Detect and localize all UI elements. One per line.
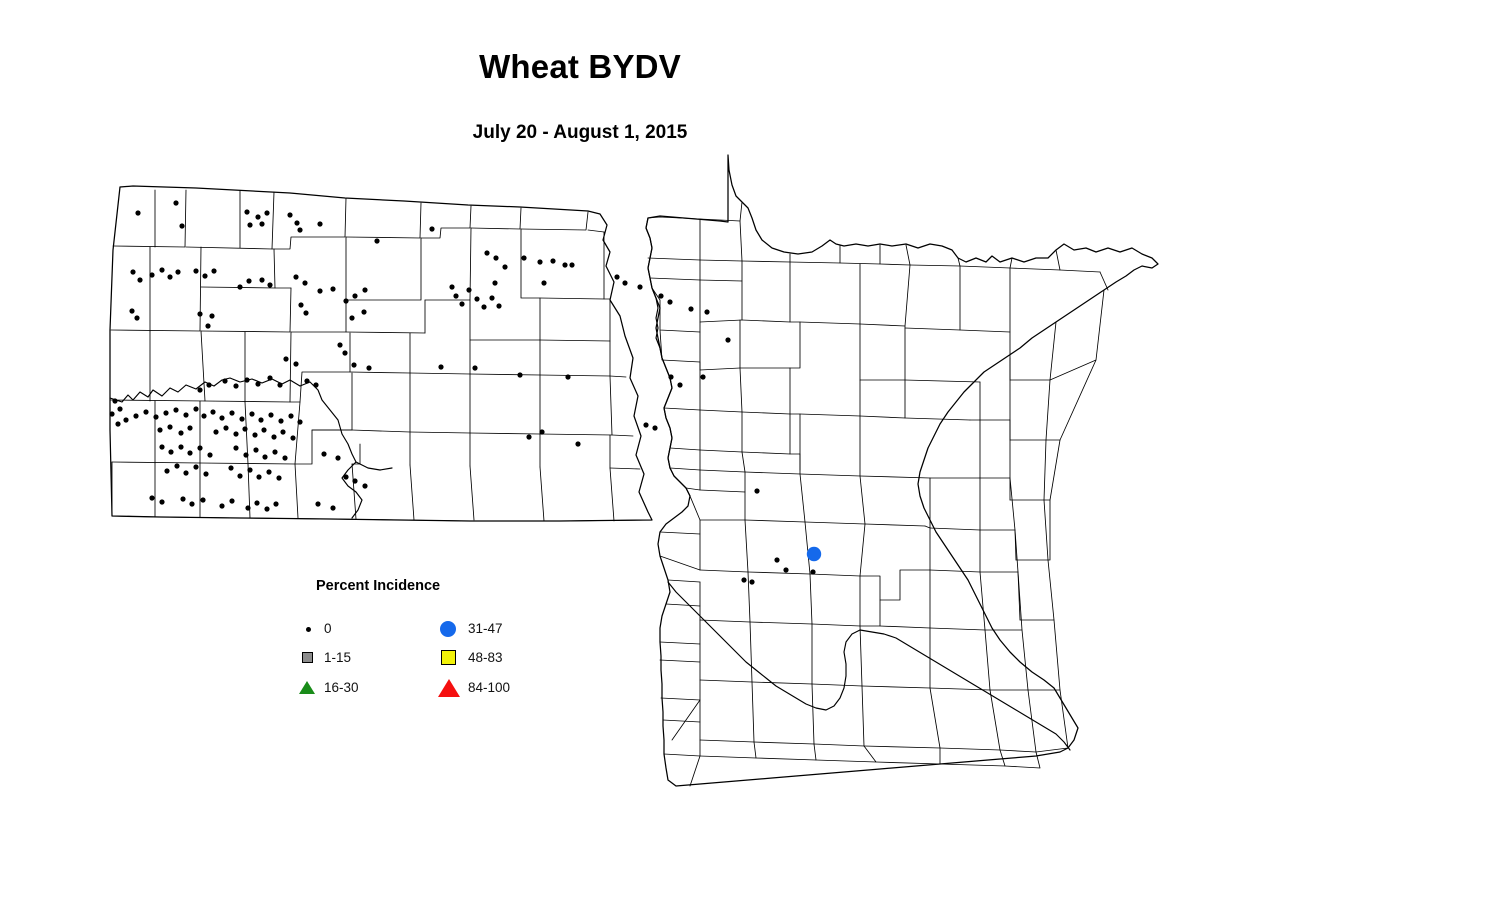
map-point-0 [237,284,242,289]
legend-symbol-grey-square [302,652,313,663]
map-point-0 [197,311,202,316]
map-point-0 [492,280,497,285]
map-point-0 [517,372,522,377]
map-point-0 [459,301,464,306]
map-point-0 [201,413,206,418]
state-north-dakota [110,186,652,521]
map-point-0 [700,374,705,379]
map-point-0 [237,473,242,478]
map-point-0 [266,469,271,474]
map-point-0 [203,471,208,476]
bydv-map-page: Wheat BYDV July 20 - August 1, 2015 [0,0,1503,900]
north-dakota-outline [110,186,652,521]
map-point-0 [233,383,238,388]
map-point-0 [261,427,266,432]
map-point-0 [280,429,285,434]
map-point-0 [117,406,122,411]
map-point-0 [313,382,318,387]
map-point-0 [282,455,287,460]
legend: Percent Incidence 0 1-15 16-30 31-47 48-… [296,572,586,712]
map-point-0 [193,406,198,411]
map-point-0 [272,449,277,454]
minnesota-outline [646,155,1158,786]
map-point-0 [335,455,340,460]
map-point-0 [183,412,188,417]
map-point-0 [157,427,162,432]
legend-label-48-83: 48-83 [468,647,503,669]
legend-symbol-yellow-square [441,650,456,665]
map-point-0 [255,381,260,386]
legend-label-16-30: 16-30 [324,677,359,699]
map-point-0 [484,250,489,255]
map-point-0 [252,432,257,437]
map-point-0 [688,306,693,311]
map-point-0 [223,425,228,430]
map-point-0 [526,434,531,439]
map-point-0 [228,465,233,470]
map-point-0 [134,315,139,320]
map-point-0 [343,474,348,479]
map-point-0 [193,268,198,273]
legend-title: Percent Incidence [316,578,440,594]
map-point-0 [179,223,184,228]
map-point-0 [153,414,158,419]
map-point-0 [264,506,269,511]
map-point-0 [725,337,730,342]
map-point-0 [453,293,458,298]
map-point-0 [283,356,288,361]
map-point-0 [315,501,320,506]
map-point-0 [668,374,673,379]
map-point-0 [267,282,272,287]
map-point-31-47 [807,547,821,561]
map-point-0 [187,425,192,430]
map-point-0 [244,377,249,382]
map-point-0 [159,444,164,449]
map-point-0 [219,503,224,508]
legend-symbol-red-triangle [438,679,460,697]
map-point-0 [652,425,657,430]
map-point-0 [259,221,264,226]
map-point-0 [749,579,754,584]
map-point-0 [197,445,202,450]
map-point-0 [614,274,619,279]
map-point-0 [245,505,250,510]
legend-symbol-green-triangle [299,681,315,694]
map-point-0 [143,409,148,414]
map-point-0 [189,501,194,506]
map-point-0 [175,269,180,274]
map-point-0 [774,557,779,562]
map-point-0 [361,309,366,314]
map-point-0 [178,430,183,435]
map-point-0 [173,200,178,205]
map-point-0 [677,382,682,387]
map-point-0 [112,398,117,403]
map-point-0 [180,496,185,501]
map-point-0 [273,501,278,506]
map-point-0 [209,313,214,318]
map-point-0 [173,407,178,412]
map-svg [0,0,1503,900]
map-point-0 [293,361,298,366]
map-point-0 [213,429,218,434]
map-point-0 [135,210,140,215]
map-point-0 [362,483,367,488]
map-point-0 [167,274,172,279]
legend-label-84-100: 84-100 [468,677,510,699]
legend-label-1-15: 1-15 [324,647,351,669]
map-point-0 [193,464,198,469]
map-point-0 [502,264,507,269]
map-point-0 [197,387,202,392]
map-point-0 [493,255,498,260]
map-canvas [0,0,1503,900]
map-point-0 [244,209,249,214]
map-point-0 [317,288,322,293]
legend-label-31-47: 31-47 [468,618,503,640]
map-point-0 [206,382,211,387]
map-point-0 [159,499,164,504]
map-point-0 [575,441,580,446]
map-point-0 [178,444,183,449]
map-point-0 [541,280,546,285]
map-point-0 [267,375,272,380]
map-point-0 [164,468,169,473]
map-point-0 [137,277,142,282]
map-point-0 [288,413,293,418]
map-point-0 [174,463,179,468]
legend-symbol-black-dot [306,627,311,632]
map-point-0 [271,434,276,439]
map-point-0 [330,505,335,510]
map-point-0 [521,255,526,260]
map-point-0 [255,214,260,219]
map-point-0 [183,470,188,475]
map-point-0 [293,274,298,279]
map-point-0 [247,222,252,227]
legend-symbol-blue-circle [440,621,456,637]
map-point-0 [489,295,494,300]
map-point-0 [130,269,135,274]
map-point-0 [287,212,292,217]
map-point-0 [438,364,443,369]
map-point-0 [294,220,299,225]
map-point-0 [278,418,283,423]
map-point-0 [569,262,574,267]
map-point-0 [304,378,309,383]
map-point-0 [168,449,173,454]
map-point-0 [667,299,672,304]
map-point-0 [481,304,486,309]
map-point-0 [123,417,128,422]
map-point-0 [219,415,224,420]
map-point-0 [298,302,303,307]
map-point-0 [337,342,342,347]
state-minnesota [646,155,1158,786]
map-point-0 [211,268,216,273]
map-point-0 [302,280,307,285]
map-point-0 [637,284,642,289]
map-point-0 [242,426,247,431]
map-point-0 [472,365,477,370]
map-point-0 [258,417,263,422]
map-point-0 [658,293,663,298]
map-point-0 [496,303,501,308]
map-point-0 [247,467,252,472]
map-point-0 [429,226,434,231]
map-point-0 [474,296,479,301]
map-point-0 [303,310,308,315]
map-point-0 [149,272,154,277]
map-point-0 [254,500,259,505]
map-point-0 [233,445,238,450]
map-point-0 [187,450,192,455]
map-point-0 [149,495,154,500]
map-point-0 [109,411,114,416]
map-point-0 [342,350,347,355]
map-point-0 [562,262,567,267]
map-point-0 [362,287,367,292]
map-point-0 [205,323,210,328]
map-point-0 [810,569,815,574]
map-point-0 [449,284,454,289]
map-point-0 [246,278,251,283]
map-point-0 [253,447,258,452]
map-point-0 [539,429,544,434]
map-point-0 [229,498,234,503]
map-point-0 [133,413,138,418]
map-point-0 [643,422,648,427]
map-point-0 [239,416,244,421]
map-point-0 [330,286,335,291]
map-point-0 [565,374,570,379]
map-point-0 [233,431,238,436]
map-point-0 [622,280,627,285]
map-point-0 [262,454,267,459]
map-point-0 [259,277,264,282]
map-point-0 [268,412,273,417]
map-point-0 [222,378,227,383]
map-point-0 [550,258,555,263]
map-point-0 [349,315,354,320]
map-point-0 [210,409,215,414]
map-point-0 [129,308,134,313]
map-point-0 [297,419,302,424]
map-point-0 [290,435,295,440]
map-point-0 [202,273,207,278]
map-point-0 [537,259,542,264]
map-point-0 [167,424,172,429]
map-point-0 [741,577,746,582]
map-point-0 [704,309,709,314]
map-point-0 [207,452,212,457]
map-point-0 [466,287,471,292]
map-point-0 [317,221,322,226]
map-point-0 [256,474,261,479]
map-point-0 [277,382,282,387]
map-point-0 [352,293,357,298]
map-point-0 [159,267,164,272]
map-point-0 [249,411,254,416]
map-point-0 [374,238,379,243]
map-point-0 [264,210,269,215]
map-point-0 [163,410,168,415]
map-point-0 [321,451,326,456]
map-point-0 [754,488,759,493]
map-point-0 [343,298,348,303]
map-point-0 [351,362,356,367]
map-point-0 [783,567,788,572]
map-point-0 [352,478,357,483]
map-point-0 [297,227,302,232]
map-point-0 [243,452,248,457]
map-point-0 [200,497,205,502]
map-point-0 [366,365,371,370]
map-point-0 [115,421,120,426]
map-point-0 [276,475,281,480]
map-point-0 [229,410,234,415]
legend-label-0: 0 [324,618,332,640]
